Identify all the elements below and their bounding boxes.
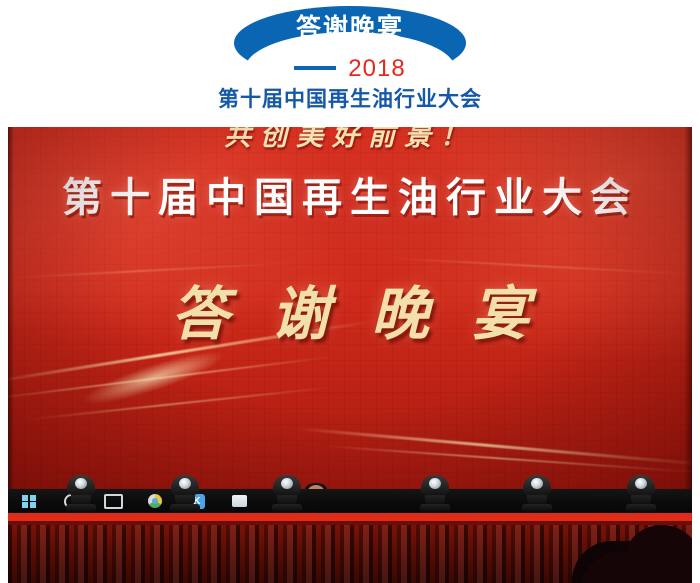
moving-head-light [270, 475, 304, 515]
right-shadow-edge [684, 127, 692, 489]
moving-head-light [520, 475, 554, 515]
left-shadow-edge [8, 127, 14, 489]
moving-head-light [624, 475, 658, 515]
page-header: 答谢晚宴 2018 第十届中国再生油行业大会 [0, 0, 700, 127]
moving-head-light [168, 475, 202, 515]
event-title: 答谢晚宴 [0, 16, 700, 41]
moving-head-light [64, 475, 98, 515]
event-subtitle: 第十届中国再生油行业大会 [0, 89, 700, 110]
event-year: 2018 [348, 57, 405, 81]
year-dash-rule [294, 66, 336, 70]
moving-head-light [418, 475, 452, 515]
event-year-row: 2018 [0, 57, 700, 81]
stage-photo: 共创美好前景！ 第十届中国再生油行业大会 答谢晚宴 主办： CRDOA 承办： [8, 127, 692, 583]
led-backdrop: 共创美好前景！ 第十届中国再生油行业大会 答谢晚宴 主办： CRDOA 承办： [8, 127, 692, 489]
moving-head-light-row [8, 473, 692, 515]
led-vignette [8, 127, 692, 489]
